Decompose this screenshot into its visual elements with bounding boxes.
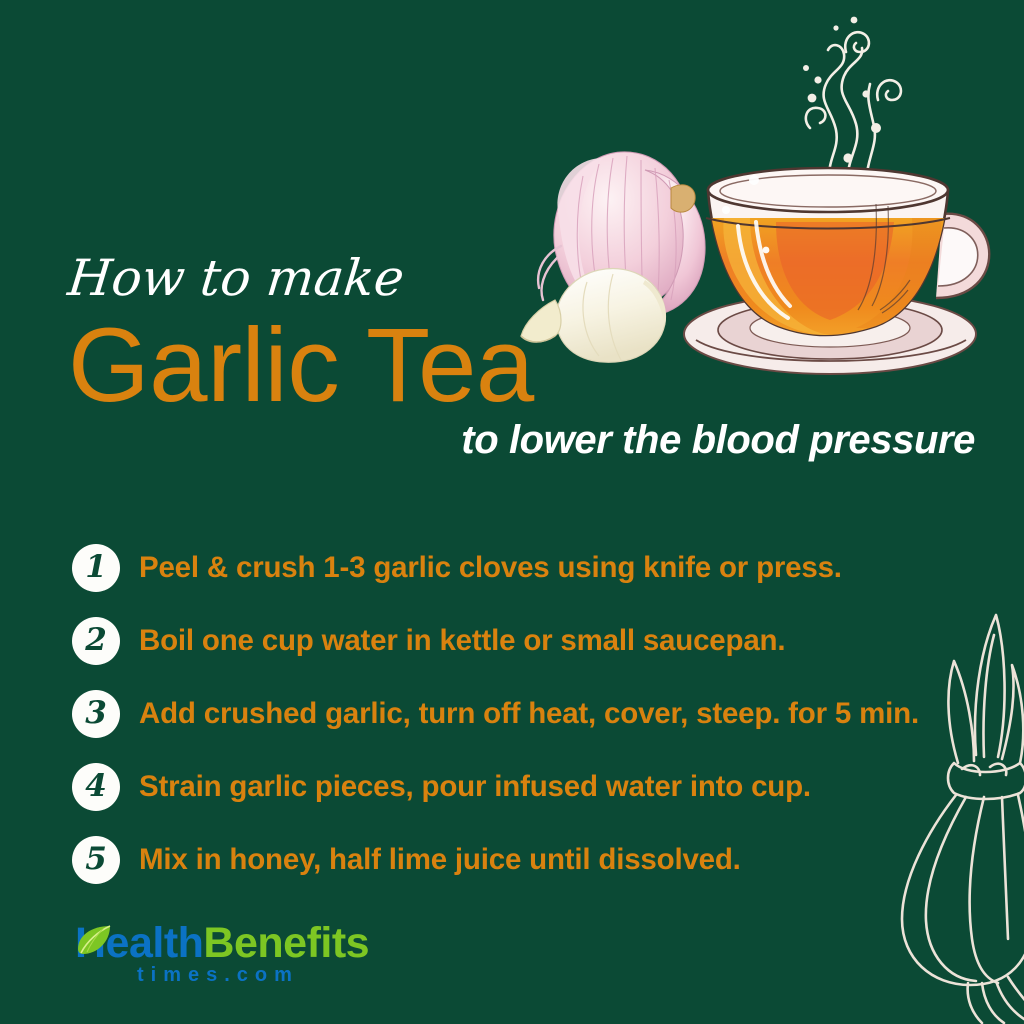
list-item: 3 Add crushed garlic, turn off heat, cov… xyxy=(72,689,972,739)
page-title: Garlic Tea xyxy=(68,313,534,418)
list-item: 2 Boil one cup water in kettle or small … xyxy=(72,616,972,666)
kicker-text: How to make xyxy=(64,248,407,307)
glass-teacup-with-tea-image xyxy=(680,130,1024,380)
steam-swirls-icon xyxy=(770,10,930,185)
page-subtitle: to lower the blood pressure xyxy=(0,418,975,463)
kicker-heading: How to make xyxy=(72,243,492,313)
step-text: Add crushed garlic, turn off heat, cover… xyxy=(139,697,919,731)
list-item: 1 Peel & crush 1-3 garlic cloves using k… xyxy=(72,543,972,593)
logo-benefits-text: Benefits xyxy=(203,919,369,967)
poster-canvas: How to make Garlic Tea to lower the bloo… xyxy=(0,0,1024,1024)
logo-domain-text: times.com xyxy=(137,964,375,987)
step-number-badge: 3 xyxy=(72,690,120,738)
site-logo[interactable]: HealthBenefits times.com xyxy=(75,920,375,987)
list-item: 5 Mix in honey, half lime juice until di… xyxy=(72,835,972,885)
step-text: Strain garlic pieces, pour infused water… xyxy=(139,770,811,804)
step-text: Peel & crush 1-3 garlic cloves using kni… xyxy=(139,551,842,585)
step-number-badge: 1 xyxy=(72,544,120,592)
step-number-badge: 5 xyxy=(72,836,120,884)
leaf-icon xyxy=(77,925,111,955)
list-item: 4 Strain garlic pieces, pour infused wat… xyxy=(72,762,972,812)
step-text: Boil one cup water in kettle or small sa… xyxy=(139,624,785,658)
steps-list: 1 Peel & crush 1-3 garlic cloves using k… xyxy=(72,543,972,908)
logo-wordmark: HealthBenefits xyxy=(75,920,375,966)
step-number-badge: 2 xyxy=(72,617,120,665)
step-text: Mix in honey, half lime juice until diss… xyxy=(139,843,741,877)
step-number-badge: 4 xyxy=(72,763,120,811)
